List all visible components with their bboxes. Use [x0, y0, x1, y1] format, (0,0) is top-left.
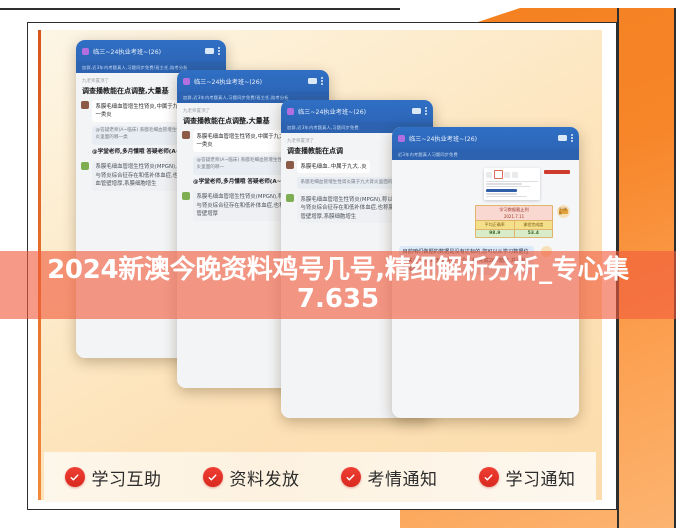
- badge-item-0[interactable]: 学习互助: [44, 465, 182, 490]
- badge-item-2[interactable]: 考情通知: [320, 465, 458, 490]
- table-header-row: 平均正确率 课程完成度: [476, 220, 552, 229]
- bottom-badge-bar: 学习互助 资料发放 考情通知 学习通知: [44, 452, 596, 502]
- message-bubble: 系膜毛细血..中属于九大..炎: [297, 160, 370, 173]
- study-data-seal-icon: 学习数据: [557, 205, 570, 218]
- window-3-title: 临三~24执业考班~(26): [298, 107, 408, 116]
- card-text-line: [486, 186, 530, 187]
- table-value-row: 98.9 53.4: [476, 229, 552, 237]
- badge-label: 考情通知: [368, 465, 438, 490]
- check-circle-icon: [65, 467, 85, 487]
- more-options-icon[interactable]: [218, 47, 220, 55]
- window-2-header[interactable]: 临三~24执业考班~(26): [177, 70, 329, 92]
- badge-label: 学习互助: [92, 465, 162, 490]
- group-avatar-icon: [82, 48, 89, 55]
- badge-label: 学习通知: [506, 465, 576, 490]
- card-text-line: [486, 183, 522, 184]
- window-4-title: 临三~24执业考班~(26): [409, 134, 554, 143]
- window-1-header[interactable]: 临三~24执业考班~(26): [76, 40, 226, 62]
- check-circle-icon: [203, 467, 223, 487]
- group-avatar-icon: [398, 135, 405, 142]
- window-4-subtitle: 近3年内考题真人习题同步免费: [398, 152, 458, 158]
- video-camera-icon[interactable]: [412, 108, 421, 114]
- window-4-subtitle-bar: 近3年内考题真人习题同步免费: [392, 149, 579, 160]
- video-camera-icon[interactable]: [308, 78, 317, 84]
- table-cell: 98.9: [476, 229, 514, 237]
- teacher-avatar: [81, 162, 89, 170]
- group-avatar-icon: [287, 108, 294, 115]
- study-data-table: 学习数据截止到 2021.7.11 平均正确率 课程完成度 98.9 53.4: [475, 205, 553, 238]
- window-3-header[interactable]: 临三~24执业考班~(26): [281, 100, 433, 122]
- teacher-avatar: [286, 194, 294, 202]
- student-avatar: [286, 161, 294, 169]
- group-avatar-icon: [183, 78, 190, 85]
- check-circle-icon: [341, 467, 361, 487]
- badge-label: 资料发放: [230, 465, 300, 490]
- screenshot-stage: 临三~24执业考班~(26) 加群,近3年内考题真人,习题同步免费/班主任,陪考…: [0, 0, 676, 529]
- window-2-subtitle: 加群,近3年内考题真人,习题同步免费/班主任,陪考分析: [183, 95, 289, 101]
- table-title: 学习数据截止到: [476, 206, 552, 214]
- more-options-icon[interactable]: [571, 134, 573, 142]
- exam-screenshot-card[interactable]: [484, 168, 540, 200]
- card-option-row: [486, 170, 538, 179]
- window-1-title: 临三~24执业考班~(26): [93, 47, 201, 56]
- card-blue-bar: [486, 189, 517, 192]
- card-text-line: [486, 196, 527, 197]
- table-cell: 53.4: [514, 229, 553, 237]
- window-3-subtitle: 加群,近3年内考题真人,习题同步免费: [287, 125, 359, 131]
- check-circle-icon: [479, 467, 499, 487]
- table-col-header: 课程完成度: [514, 220, 553, 229]
- teacher-avatar: [182, 192, 190, 200]
- card-text-line: [486, 181, 538, 182]
- badge-item-3[interactable]: 学习通知: [458, 465, 596, 490]
- seal-label: 学习数据: [559, 209, 568, 214]
- more-options-icon[interactable]: [321, 77, 323, 85]
- answer-badge: [544, 170, 570, 174]
- selected-option-box: [494, 170, 503, 179]
- more-options-icon[interactable]: [425, 107, 427, 115]
- video-camera-icon[interactable]: [558, 135, 567, 141]
- window-2-title: 临三~24执业考班~(26): [194, 77, 304, 86]
- student-avatar: [81, 101, 89, 109]
- option-thumb: [512, 172, 518, 178]
- watermark-band: [0, 251, 676, 319]
- badge-item-1[interactable]: 资料发放: [182, 465, 320, 490]
- student-avatar: [182, 131, 190, 139]
- video-camera-icon[interactable]: [205, 48, 214, 54]
- window-4-header[interactable]: 临三~24执业考班~(26): [392, 127, 579, 149]
- table-col-header: 平均正确率: [476, 220, 514, 229]
- window-1-subtitle: 加群,近3年内考题真人,习题同步免费/班主任,陪考分析: [82, 65, 188, 71]
- card-text-line: [486, 193, 517, 194]
- option-thumb: [504, 172, 510, 178]
- option-thumb: [486, 172, 492, 178]
